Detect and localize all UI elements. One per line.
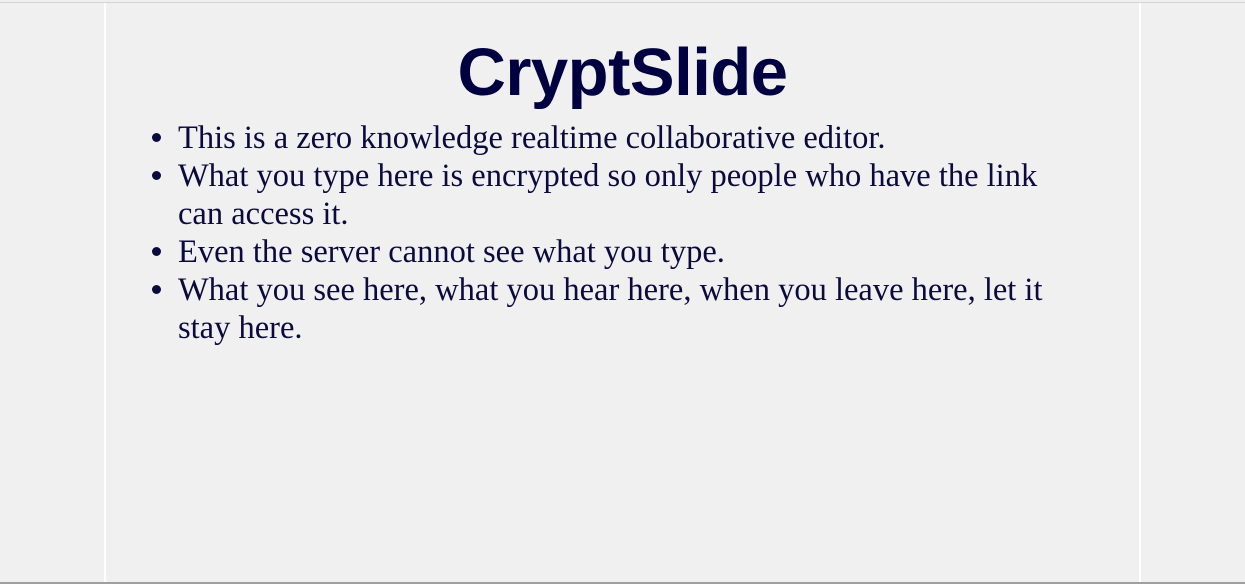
bullet-disc-icon (152, 285, 161, 294)
slide-canvas[interactable]: CryptSlide This is a zero knowledge real… (106, 3, 1139, 582)
list-item[interactable]: Even the server cannot see what you type… (152, 233, 1083, 271)
list-item[interactable]: What you type here is encrypted so only … (152, 157, 1083, 233)
bullet-disc-icon (152, 133, 161, 142)
list-item-text: This is a zero knowledge realtime collab… (178, 120, 886, 156)
list-item-text: Even the server cannot see what you type… (178, 234, 725, 270)
slide-bullet-list[interactable]: This is a zero knowledge realtime collab… (106, 119, 1139, 347)
list-item-text: What you see here, what you hear here, w… (178, 272, 1043, 346)
slide-frame-line-right (1139, 3, 1141, 582)
slide-viewport: CryptSlide This is a zero knowledge real… (0, 0, 1245, 584)
bullet-disc-icon (152, 171, 161, 180)
list-item[interactable]: What you see here, what you hear here, w… (152, 271, 1083, 347)
list-item-text: What you type here is encrypted so only … (178, 158, 1037, 232)
list-item[interactable]: This is a zero knowledge realtime collab… (152, 119, 1083, 157)
bullet-disc-icon (152, 247, 161, 256)
slide-title[interactable]: CryptSlide (106, 3, 1139, 106)
